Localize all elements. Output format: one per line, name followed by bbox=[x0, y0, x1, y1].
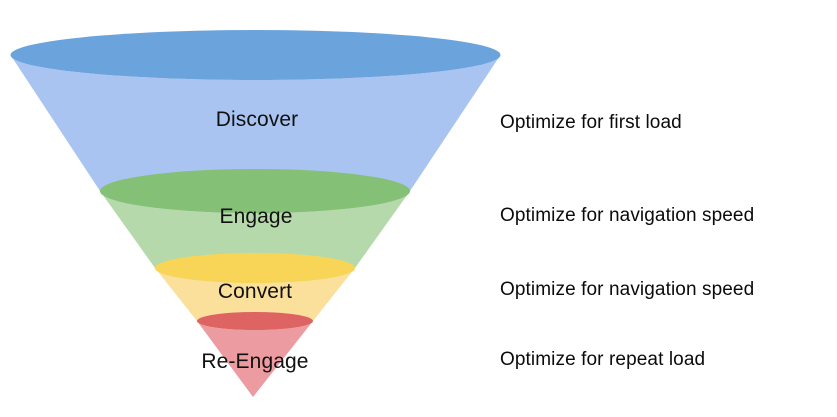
funnel-label-engage: Engage bbox=[219, 205, 292, 229]
funnel-top-ellipse-convert bbox=[155, 253, 355, 283]
funnel-label-discover: Discover bbox=[216, 108, 298, 132]
funnel-annotation-engage: Optimize for navigation speed bbox=[500, 205, 754, 227]
funnel-diagram-canvas: Discover Engage Convert Re-Engage Optimi… bbox=[0, 0, 837, 417]
funnel-annotation-convert: Optimize for navigation speed bbox=[500, 279, 754, 301]
funnel-label-re-engage: Re-Engage bbox=[201, 350, 308, 374]
funnel-top-ellipse-re-engage bbox=[197, 312, 313, 330]
funnel-label-convert: Convert bbox=[218, 280, 292, 304]
funnel-annotation-re-engage: Optimize for repeat load bbox=[500, 349, 705, 371]
funnel-annotation-discover: Optimize for first load bbox=[500, 112, 682, 134]
funnel-top-ellipse-discover bbox=[11, 30, 501, 80]
